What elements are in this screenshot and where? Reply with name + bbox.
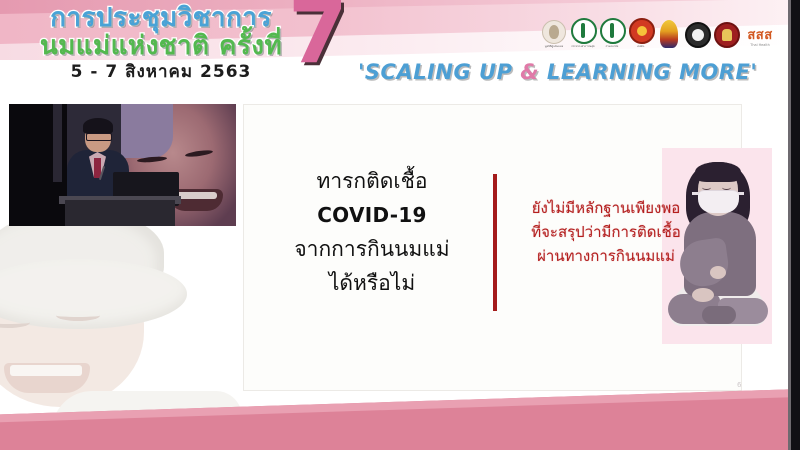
sss-logo-caption: Thai Health bbox=[743, 43, 777, 48]
department-health-logo: กรมอนามัย bbox=[600, 18, 624, 48]
slide-header: การประชุมวิชาการ นมแม่แห่งชาติ ครั้งที่ … bbox=[0, 0, 791, 96]
answer-line-3: ผ่านทางการกินนมแม่ bbox=[506, 244, 706, 268]
vertical-red-divider bbox=[493, 174, 497, 311]
question-text-block: ทารกติดเชื้อ COVID-19 จากการกินนมแม่ ได้… bbox=[258, 164, 486, 300]
tagline-suffix: LEARNING MORE' bbox=[539, 60, 757, 84]
tagline-ampersand: & bbox=[520, 60, 539, 84]
answer-line-1: ยังไม่มีหลักฐานเพียงพอ bbox=[506, 196, 706, 220]
answer-line-2: ที่จะสรุปว่ามีการติดเชื้อ bbox=[506, 220, 706, 244]
conference-date: 5 - 7 สิงหาคม 2563 bbox=[16, 62, 306, 82]
answer-text-block: ยังไม่มีหลักฐานเพียงพอ ที่จะสรุปว่ามีการ… bbox=[506, 196, 706, 268]
nhso-logo: สปสช. bbox=[629, 18, 653, 48]
speaker-podium-photo bbox=[9, 104, 236, 226]
smiling-child-watermark-image bbox=[0, 205, 252, 420]
question-line-3: จากการกินนมแม่ bbox=[258, 232, 486, 266]
conference-title-block: การประชุมวิชาการ นมแม่แห่งชาติ ครั้งที่ … bbox=[16, 4, 306, 82]
conference-tagline: 'SCALING UP & LEARNING MORE' bbox=[358, 60, 757, 84]
tagline-prefix: 'SCALING UP bbox=[358, 60, 520, 84]
university-seal-logo bbox=[685, 22, 709, 48]
video-frame-right-edge bbox=[791, 0, 800, 450]
ministry-public-health-logo: กระทรวงสาธารณสุข bbox=[571, 18, 595, 48]
conference-title-line1: การประชุมวิชาการ bbox=[16, 4, 306, 32]
slide-number: 6 bbox=[737, 381, 741, 389]
question-line-4: ได้หรือไม่ bbox=[258, 266, 486, 300]
royal-crest-logo bbox=[658, 20, 680, 48]
question-line-1: ทารกติดเชื้อ bbox=[258, 164, 486, 198]
question-line-2: COVID-19 bbox=[258, 198, 486, 232]
thai-red-seal-logo bbox=[714, 22, 738, 48]
conference-title-line2: นมแม่แห่งชาติ ครั้งที่ bbox=[16, 32, 306, 60]
edition-number: 7 bbox=[288, 0, 348, 76]
sponsor-logo-row: มูลนิธิศูนย์นมแม่ กระทรวงสาธารณสุข กรมอน… bbox=[542, 18, 777, 48]
thai-pediatric-foundation-logo: มูลนิธิศูนย์นมแม่ bbox=[542, 20, 566, 48]
presentation-slide: การประชุมวิชาการ นมแม่แห่งชาติ ครั้งที่ … bbox=[0, 0, 800, 450]
thaihealth-sss-logo: สสส Thai Health bbox=[743, 29, 777, 48]
sss-logo-text: สสส bbox=[743, 29, 777, 43]
